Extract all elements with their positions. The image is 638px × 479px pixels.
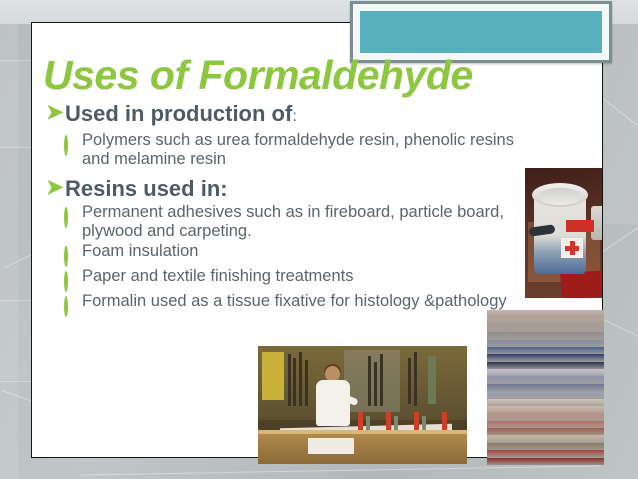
list-item-label: Paper and textile finishing treatments: [82, 267, 354, 286]
background-line-decoration: [599, 317, 638, 344]
page-title: Uses of Formaldehyde: [43, 53, 473, 97]
background-soft-shape: [0, 24, 18, 479]
slide-stage: Uses of Formaldehyde ➤ Used in productio…: [0, 0, 638, 479]
list-item-label: Formalin used as a tissue fixative for h…: [82, 292, 507, 311]
ring-bullet-icon: [64, 267, 82, 291]
list-item-level1: ➤ Used in production of:: [46, 100, 516, 130]
list-item-level2: Formalin used as a tissue fixative for h…: [46, 292, 516, 316]
slide-canvas: Uses of Formaldehyde ➤ Used in productio…: [31, 22, 603, 458]
list-item-label: Used in production of:: [65, 100, 297, 130]
list-item-label: Foam insulation: [82, 242, 198, 261]
arrow-bullet-icon: ➤: [46, 100, 65, 125]
ring-bullet-icon: [64, 292, 82, 316]
ring-bullet-icon: [64, 203, 82, 227]
fabric-stack-photo: [487, 310, 604, 465]
slide-body: ➤ Used in production of: Polymers such a…: [46, 100, 516, 317]
list-item-level2: Permanent adhesives such as in fireboard…: [46, 203, 516, 241]
background-line-decoration: [80, 465, 600, 475]
list-item-level2: Foam insulation: [46, 242, 516, 266]
list-item-label: Polymers such as urea formaldehyde resin…: [82, 131, 516, 169]
woodworking-shop-photo: [258, 346, 467, 464]
banner-fill: [360, 11, 602, 53]
list-item-label: Resins used in:: [65, 175, 228, 202]
paint-can-photo: [525, 168, 602, 298]
fabric-band: [487, 458, 604, 465]
list-item-label: Permanent adhesives such as in fireboard…: [82, 203, 516, 241]
ring-bullet-icon: [64, 131, 82, 155]
arrow-bullet-icon: ➤: [46, 175, 65, 200]
list-item-level2: Paper and textile finishing treatments: [46, 267, 516, 291]
list-item-level1: ➤ Resins used in:: [46, 175, 516, 202]
ring-bullet-icon: [64, 242, 82, 266]
list-item-level2: Polymers such as urea formaldehyde resin…: [46, 131, 516, 169]
